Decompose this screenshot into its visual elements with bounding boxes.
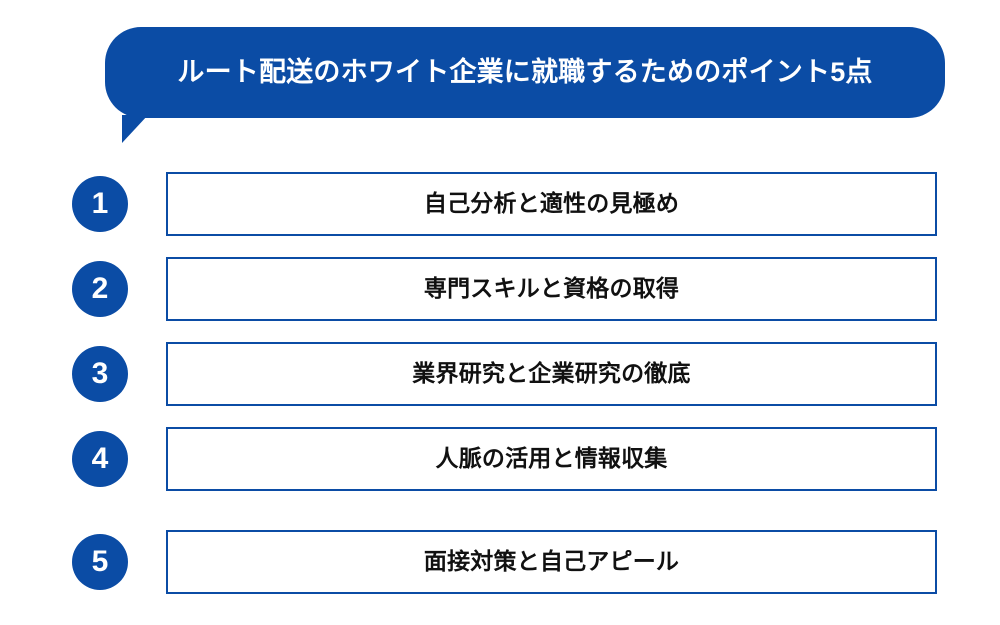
points-list: 1 自己分析と適性の見極め 2 専門スキルと資格の取得 3 業界研究と企業研究の… [0,172,1000,594]
number-badge-label: 2 [92,274,109,304]
page-title: ルート配送のホワイト企業に就職するためのポイント5点 [151,57,898,88]
list-item: 5 面接対策と自己アピール [0,530,1000,594]
point-box-4: 人脈の活用と情報収集 [166,427,937,491]
number-badge-label: 4 [92,444,109,474]
point-label: 専門スキルと資格の取得 [424,275,679,303]
number-badge-5: 5 [72,534,128,590]
point-label: 業界研究と企業研究の徹底 [412,360,690,388]
number-badge-3: 3 [72,346,128,402]
number-badge-1: 1 [72,176,128,232]
point-label: 自己分析と適性の見極め [424,190,679,218]
point-box-3: 業界研究と企業研究の徹底 [166,342,937,406]
speech-bubble-tail-icon [122,115,148,143]
number-badge-4: 4 [72,431,128,487]
infographic-canvas: ルート配送のホワイト企業に就職するためのポイント5点 1 自己分析と適性の見極め… [0,0,1000,625]
point-box-2: 専門スキルと資格の取得 [166,257,937,321]
point-box-5: 面接対策と自己アピール [166,530,937,594]
number-badge-label: 5 [92,547,109,577]
list-item: 4 人脈の活用と情報収集 [0,427,1000,491]
list-item: 3 業界研究と企業研究の徹底 [0,342,1000,406]
number-badge-label: 1 [92,189,109,219]
header-banner: ルート配送のホワイト企業に就職するためのポイント5点 [105,27,945,143]
number-badge-2: 2 [72,261,128,317]
list-item: 1 自己分析と適性の見極め [0,172,1000,236]
number-badge-label: 3 [92,359,109,389]
header-banner-body: ルート配送のホワイト企業に就職するためのポイント5点 [105,27,945,118]
point-label: 人脈の活用と情報収集 [436,445,668,473]
point-label: 面接対策と自己アピール [424,548,679,576]
point-box-1: 自己分析と適性の見極め [166,172,937,236]
list-item: 2 専門スキルと資格の取得 [0,257,1000,321]
